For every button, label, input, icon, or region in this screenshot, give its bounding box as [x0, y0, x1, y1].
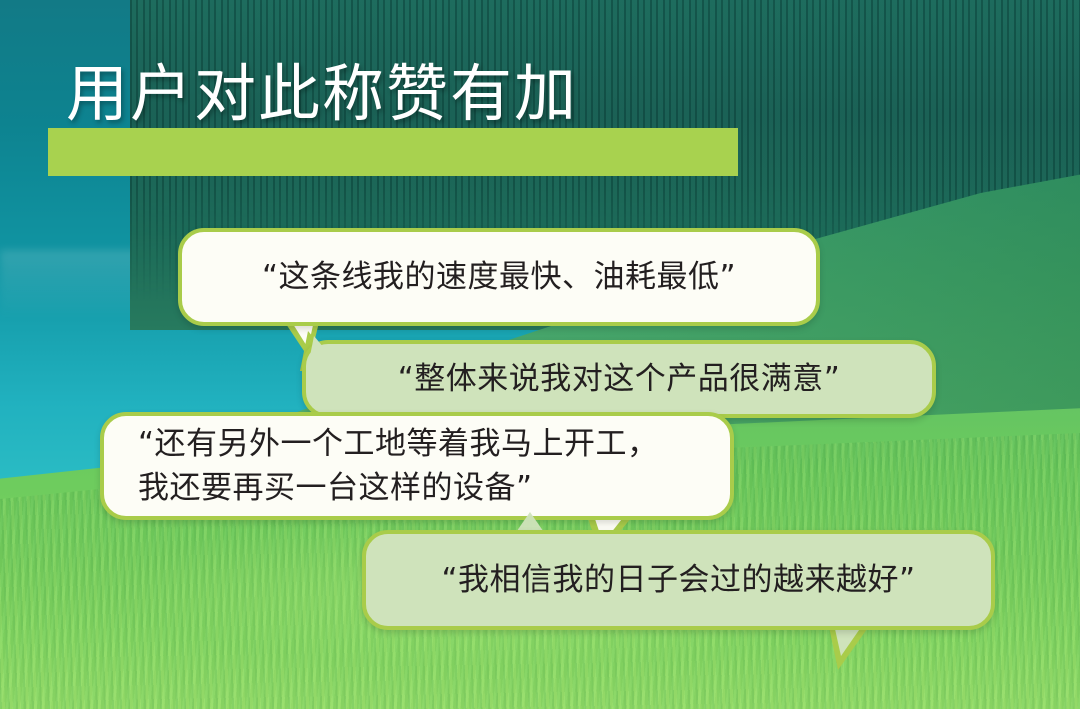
- testimonial-bubble-3-text: “还有另外一个工地等着我马上开工， 我还要再买一台这样的设备”: [104, 422, 730, 510]
- testimonial-bubble-3-line-1: “还有另外一个工地等着我马上开工，: [138, 426, 659, 462]
- testimonial-bubble-3-line-2: 我还要再买一台这样的设备”: [138, 470, 533, 506]
- testimonial-bubble-4-text: “我相信我的日子会过的越来越好”: [366, 558, 991, 602]
- headline-highlight-bar: [48, 128, 738, 176]
- headline-group: 用户对此称赞有加: [48, 62, 808, 192]
- page-title: 用户对此称赞有加: [66, 62, 578, 127]
- testimonial-bubble-2: “整体来说我对这个产品很满意”: [302, 340, 936, 418]
- poster-canvas: 用户对此称赞有加 “这条线我的速度最快、油耗最低” “整体来说我对这个产品很满意…: [0, 0, 1080, 709]
- testimonial-bubble-2-text: “整体来说我对这个产品很满意”: [306, 357, 932, 401]
- testimonial-bubble-1: “这条线我的速度最快、油耗最低”: [178, 228, 820, 326]
- testimonial-bubble-1-text: “这条线我的速度最快、油耗最低”: [182, 255, 816, 299]
- bubble-2-tail-fill: [308, 336, 339, 366]
- testimonial-bubble-4: “我相信我的日子会过的越来越好”: [362, 530, 995, 630]
- testimonial-bubble-3: “还有另外一个工地等着我马上开工， 我还要再买一台这样的设备”: [100, 412, 734, 520]
